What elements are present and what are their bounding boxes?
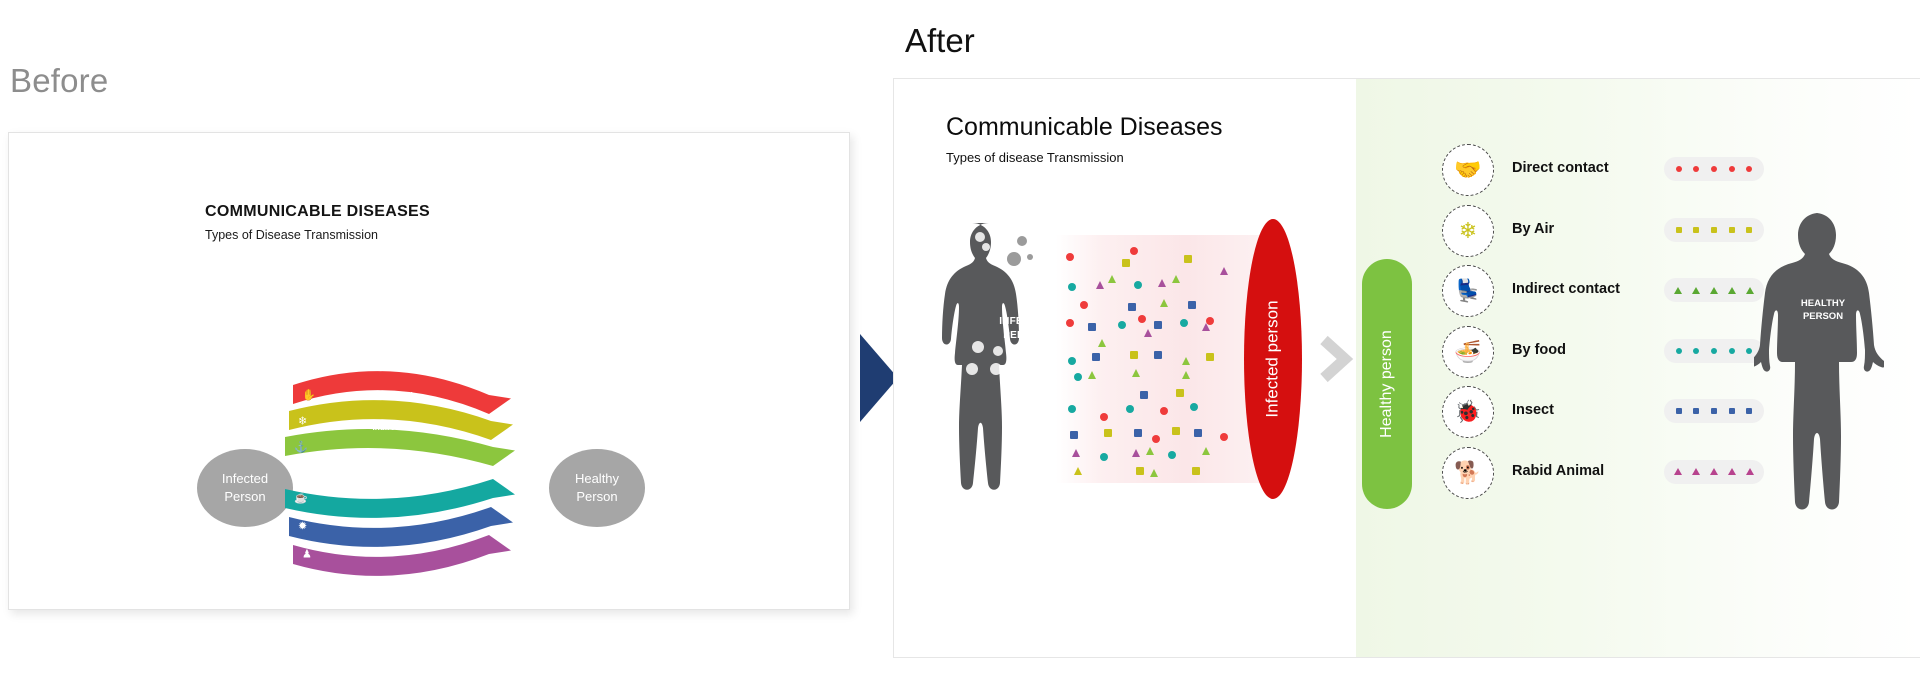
legend-marker xyxy=(1692,468,1700,475)
legend-marker xyxy=(1674,468,1682,475)
dog-icon[interactable]: 🐕 xyxy=(1442,447,1494,499)
scatter-marker xyxy=(1100,453,1108,461)
scatter-marker xyxy=(1138,315,1146,323)
legend-marker-chip xyxy=(1664,157,1764,181)
legend-row[interactable]: 🍜By food xyxy=(1442,323,1742,384)
scatter-marker xyxy=(1160,299,1168,307)
scatter-marker xyxy=(1132,369,1140,377)
scatter-marker xyxy=(1172,275,1180,283)
legend-marker xyxy=(1746,287,1754,294)
before-infected-line1: Infected xyxy=(222,470,268,488)
beetle-icon[interactable]: 🐞 xyxy=(1442,386,1494,438)
legend-marker-chip xyxy=(1664,460,1764,484)
legend-marker xyxy=(1746,227,1752,233)
legend-label: Insect xyxy=(1512,402,1554,418)
scatter-marker xyxy=(1136,467,1144,475)
legend-marker xyxy=(1711,408,1717,414)
before-diagram-subtitle: Types of Disease Transmission xyxy=(205,228,378,242)
legend-marker xyxy=(1711,227,1717,233)
after-section-label: After xyxy=(905,22,975,60)
scatter-marker xyxy=(1096,281,1104,289)
handshake-icon: ✋ xyxy=(302,389,316,402)
scatter-marker xyxy=(1206,353,1214,361)
scatter-marker xyxy=(1184,255,1192,263)
infected-person-figure: INFECTED PERSON xyxy=(934,219,1044,539)
legend-marker xyxy=(1729,166,1735,172)
scatter-marker xyxy=(1140,391,1148,399)
healthy-person-label: HEALTHY PERSON xyxy=(1790,297,1856,324)
scatter-marker xyxy=(1180,319,1188,327)
male-silhouette-icon xyxy=(1754,207,1884,557)
pathogen-scatter-field xyxy=(1056,235,1266,483)
legend-marker xyxy=(1693,166,1699,172)
scatter-marker xyxy=(1118,321,1126,329)
legend-marker-chip xyxy=(1664,399,1764,423)
legend-marker xyxy=(1676,166,1682,172)
legend-marker xyxy=(1693,227,1699,233)
legend-marker xyxy=(1729,227,1735,233)
scatter-marker xyxy=(1070,431,1078,439)
scatter-marker xyxy=(1146,447,1154,455)
legend-label: Indirect contact xyxy=(1512,281,1620,297)
legend-marker xyxy=(1746,166,1752,172)
legend-marker xyxy=(1711,166,1717,172)
legend-marker xyxy=(1728,468,1736,475)
handshake-icon[interactable]: 🤝 xyxy=(1442,144,1494,196)
infected-person-label: INFECTED PERSON xyxy=(986,315,1064,342)
scatter-marker xyxy=(1072,449,1080,457)
scatter-marker xyxy=(1194,429,1202,437)
scatter-marker xyxy=(1092,353,1100,361)
scatter-marker xyxy=(1068,283,1076,291)
scatter-marker xyxy=(1154,321,1162,329)
scatter-marker xyxy=(1152,435,1160,443)
legend-icon-glyph: 🍜 xyxy=(1454,341,1481,363)
scatter-marker xyxy=(1192,467,1200,475)
legend-marker xyxy=(1710,468,1718,475)
scatter-marker xyxy=(1134,281,1142,289)
scatter-marker xyxy=(1182,357,1190,365)
legend-row[interactable]: ❄By Air xyxy=(1442,202,1742,263)
legend-marker xyxy=(1693,348,1699,354)
legend-row[interactable]: 🐞Insect xyxy=(1442,383,1742,444)
desk-icon: ⚓ xyxy=(294,441,308,454)
arrow-label: Rabid Animal xyxy=(379,579,431,588)
scatter-marker xyxy=(1206,317,1214,325)
before-card: COMMUNICABLE DISEASES Types of Disease T… xyxy=(8,132,850,610)
healthy-person-pill-label: Healthy person xyxy=(1378,330,1396,438)
scatter-marker xyxy=(1074,373,1082,381)
legend-marker xyxy=(1746,408,1752,414)
legend-marker xyxy=(1728,287,1736,294)
scatter-marker xyxy=(1128,303,1136,311)
legend-marker xyxy=(1729,348,1735,354)
scatter-marker xyxy=(1150,469,1158,477)
legend-marker xyxy=(1710,287,1718,294)
legend-label: By food xyxy=(1512,342,1566,358)
germ-icon: ❄ xyxy=(298,416,307,428)
legend-marker xyxy=(1711,348,1717,354)
scatter-marker xyxy=(1068,357,1076,365)
legend-marker xyxy=(1729,408,1735,414)
scatter-marker xyxy=(1068,405,1076,413)
infected-label-line2: PERSON xyxy=(986,329,1064,343)
legend-row[interactable]: 🤝Direct contact xyxy=(1442,141,1742,202)
before-diagram: COMMUNICABLE DISEASES Types of Disease T… xyxy=(9,133,849,609)
infected-person-pill: Infected person xyxy=(1244,219,1302,499)
scatter-marker xyxy=(1066,319,1074,327)
legend-marker xyxy=(1676,227,1682,233)
female-silhouette-icon xyxy=(934,219,1044,539)
scatter-marker xyxy=(1190,403,1198,411)
scatter-marker xyxy=(1168,451,1176,459)
scatter-marker xyxy=(1172,427,1180,435)
scatter-marker xyxy=(1098,339,1106,347)
before-arrow-stack: Direct contact✋By Air❄Indirect contact⚓B… xyxy=(279,371,539,601)
scatter-marker xyxy=(1122,259,1130,267)
legend-icon-glyph: 🐕 xyxy=(1454,462,1481,484)
legend-marker-chip xyxy=(1664,218,1764,242)
before-healthy-person-node: Healthy Person xyxy=(549,449,645,527)
before-diagram-title: COMMUNICABLE DISEASES xyxy=(205,203,430,221)
legend-icon-glyph: 🐞 xyxy=(1454,401,1481,423)
healthy-person-pill: Healthy person xyxy=(1362,259,1412,509)
snowflake-icon[interactable]: ❄ xyxy=(1442,205,1494,257)
legend-marker xyxy=(1693,408,1699,414)
scatter-marker xyxy=(1176,389,1184,397)
scatter-marker xyxy=(1108,275,1116,283)
legend-row[interactable]: 💺Indirect contact xyxy=(1442,262,1742,323)
scatter-marker xyxy=(1130,247,1138,255)
comparison-slide: Before COMMUNICABLE DISEASES Types of Di… xyxy=(0,0,1920,690)
after-diagram-title: Communicable Diseases xyxy=(946,113,1223,142)
scatter-marker xyxy=(1132,449,1140,457)
scatter-marker xyxy=(1074,467,1082,475)
scatter-marker xyxy=(1088,323,1096,331)
before-healthy-line2: Person xyxy=(575,488,619,506)
scatter-marker xyxy=(1126,405,1134,413)
scatter-marker xyxy=(1182,371,1190,379)
scatter-marker xyxy=(1154,351,1162,359)
scatter-marker xyxy=(1080,301,1088,309)
before-infected-line2: Person xyxy=(222,488,268,506)
chevron-right-icon xyxy=(1314,334,1354,384)
noodle-bowl-icon[interactable]: 🍜 xyxy=(1442,326,1494,378)
legend-icon-glyph: 🤝 xyxy=(1454,159,1481,181)
legend-marker-chip xyxy=(1664,278,1764,302)
legend-marker xyxy=(1676,348,1682,354)
arrow-label: Indirect contact xyxy=(373,423,434,432)
food-icon: ☕ xyxy=(294,491,308,505)
infected-label-line1: INFECTED xyxy=(986,315,1064,329)
legend-label: Rabid Animal xyxy=(1512,463,1604,479)
infected-person-pill-label: Infected person xyxy=(1263,300,1283,417)
scatter-marker xyxy=(1220,267,1228,275)
transmission-legend-list: 🤝Direct contact❄By Air💺Indirect contact🍜… xyxy=(1442,141,1742,504)
scatter-marker xyxy=(1188,301,1196,309)
scatter-marker xyxy=(1158,279,1166,287)
scatter-marker xyxy=(1066,253,1074,261)
legend-row[interactable]: 🐕Rabid Animal xyxy=(1442,444,1742,505)
legend-label: By Air xyxy=(1512,221,1554,237)
scatter-marker xyxy=(1134,429,1142,437)
legend-marker xyxy=(1746,348,1752,354)
insect-icon: ✹ xyxy=(298,521,307,533)
scatter-marker xyxy=(1202,447,1210,455)
healthy-person-figure: HEALTHY PERSON xyxy=(1754,207,1884,557)
after-diagram-subtitle: Types of disease Transmission xyxy=(946,150,1124,165)
after-card: Communicable Diseases Types of disease T… xyxy=(893,78,1920,658)
scatter-marker xyxy=(1130,351,1138,359)
dog-icon: ♟ xyxy=(302,549,312,561)
legend-icon-glyph: ❄ xyxy=(1459,220,1477,242)
scatter-marker xyxy=(1100,413,1108,421)
legend-icon-glyph: 💺 xyxy=(1454,280,1481,302)
scatter-marker xyxy=(1104,429,1112,437)
legend-marker xyxy=(1746,468,1754,475)
before-healthy-line1: Healthy xyxy=(575,470,619,488)
healthy-label-line1: HEALTHY xyxy=(1790,297,1856,310)
before-section-label: Before xyxy=(10,62,108,100)
scatter-marker xyxy=(1160,407,1168,415)
arrow-label: By Air xyxy=(392,391,417,400)
scatter-marker xyxy=(1144,329,1152,337)
legend-marker xyxy=(1692,287,1700,294)
legend-label: Direct contact xyxy=(1512,160,1609,176)
legend-marker xyxy=(1676,408,1682,414)
scatter-marker xyxy=(1088,371,1096,379)
healthy-label-line2: PERSON xyxy=(1790,310,1856,323)
legend-marker-chip xyxy=(1664,339,1764,363)
desk-person-icon[interactable]: 💺 xyxy=(1442,265,1494,317)
legend-marker xyxy=(1674,287,1682,294)
scatter-marker xyxy=(1220,433,1228,441)
